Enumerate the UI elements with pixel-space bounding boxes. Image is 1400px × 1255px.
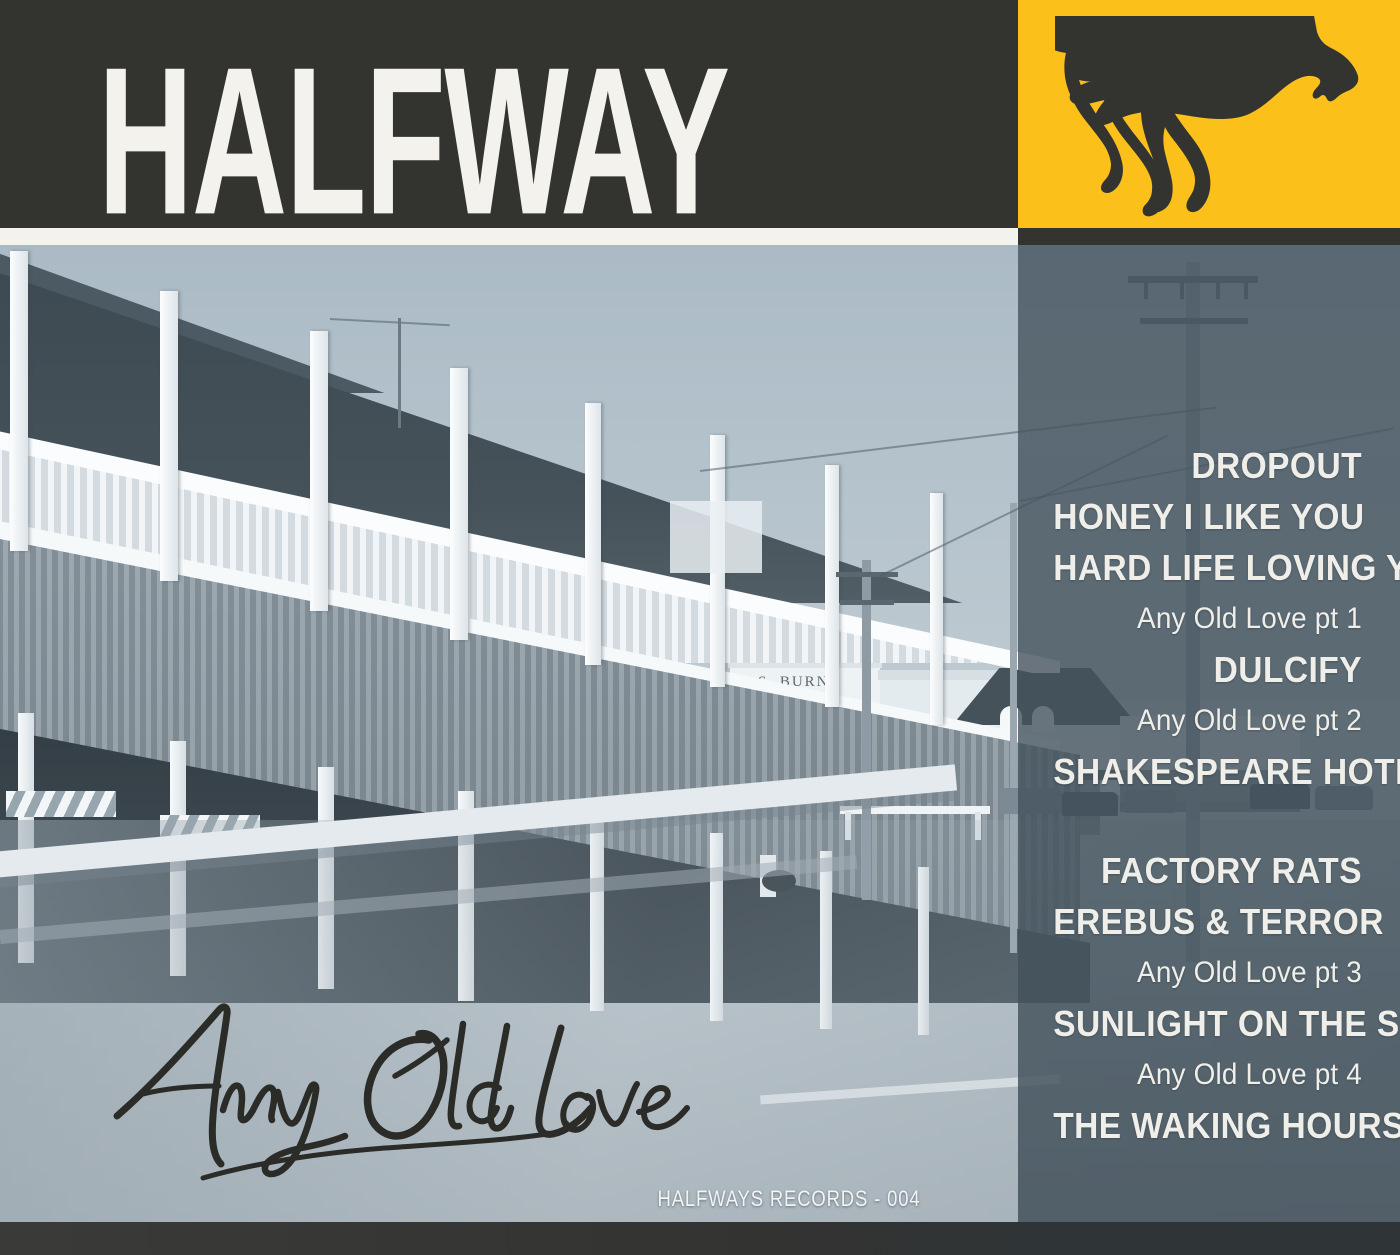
track-item: DROPOUT (1053, 440, 1362, 491)
verandah-column (160, 291, 178, 581)
hotel-signboard (670, 501, 762, 573)
album-title-script (95, 988, 695, 1188)
album-cover: S. BURNS (0, 0, 1400, 1255)
dark-divider-strip (1018, 228, 1400, 245)
track-item: Any Old Love pt 3 (1053, 947, 1362, 998)
tv-antenna-mast (398, 318, 401, 428)
galloping-horse-icon (1055, 16, 1365, 221)
track-item: HONEY I LIKE YOU (1053, 491, 1362, 542)
record-label-catalog: HALFWAYS RECORDS - 004 (597, 1186, 982, 1212)
track-item: HARD LIFE LOVING YOU (1053, 542, 1362, 593)
verandah-column (825, 465, 839, 707)
pole-crossarm (840, 600, 894, 605)
track-item: Any Old Love pt 4 (1053, 1049, 1362, 1100)
track-item: Any Old Love pt 1 (1053, 593, 1362, 644)
verandah-column (310, 331, 328, 611)
artist-title: HALFWAY (98, 44, 729, 238)
verandah-column (450, 368, 468, 640)
verandah-column (10, 251, 28, 551)
tracklist-side-gap (1030, 797, 1362, 845)
record-label-wrap: HALFWAYS RECORDS - 004 (560, 1186, 1018, 1212)
track-item: SHAKESPEARE HOTEL (1053, 746, 1362, 797)
verandah-column (585, 403, 601, 665)
verandah-column (930, 493, 943, 725)
track-item: FACTORY RATS (1053, 845, 1362, 896)
track-item: SUNLIGHT ON THE SILLS (1053, 998, 1362, 1049)
tracklist: DROPOUT HONEY I LIKE YOU HARD LIFE LOVIN… (1030, 440, 1362, 1151)
track-item: Any Old Love pt 2 (1053, 695, 1362, 746)
track-item: EREBUS & TERROR (1053, 896, 1362, 947)
striped-awning (6, 791, 116, 817)
track-item: THE WAKING HOURS (1053, 1100, 1362, 1151)
track-item: DULCIFY (1053, 644, 1362, 695)
bottom-band-right (1018, 1222, 1400, 1255)
